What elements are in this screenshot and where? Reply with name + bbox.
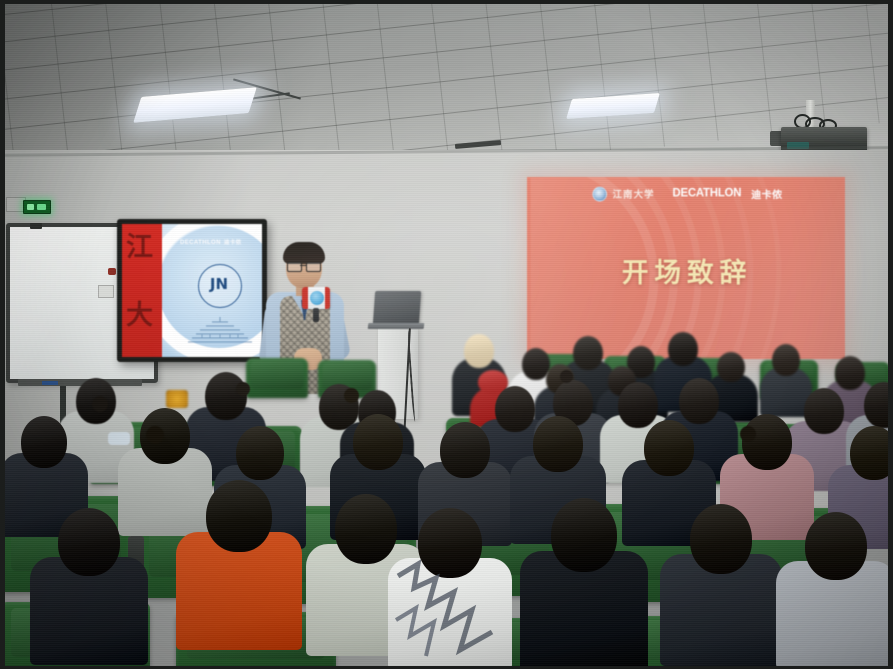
audience-member-head: [679, 378, 719, 424]
laptop[interactable]: [373, 291, 421, 325]
audience-member-head: [850, 426, 893, 480]
varsity-jacket-emblem: [166, 390, 188, 408]
audience-member-head: [551, 498, 617, 572]
audience-member-head: [690, 504, 752, 574]
microphone-handle: [313, 308, 319, 322]
audience-member: [660, 504, 782, 669]
exit-sign-icon: [23, 200, 51, 214]
tv-seal-text: JN: [208, 274, 230, 294]
presenter-hair: [283, 242, 325, 264]
audience-member-head: [742, 414, 792, 470]
audience-member-head: [21, 416, 67, 468]
audience-member-head: [353, 414, 403, 470]
audience-member: [30, 508, 148, 669]
microphone-logo-disc: [310, 291, 324, 305]
audience-member: [520, 498, 648, 669]
tv-brand-cn: 迪卡侬: [224, 240, 242, 246]
wall-socket[interactable]: [98, 285, 114, 298]
glasses-icon: [287, 262, 321, 270]
audience-member-head: [236, 426, 284, 480]
audience-hair-bun: [740, 426, 756, 442]
audience-hair-bun: [236, 382, 250, 396]
wall-fixture: [108, 268, 116, 275]
audience-member: [176, 480, 302, 669]
audience-member-head: [206, 480, 272, 552]
tv-banner-char-1: 江: [126, 234, 153, 261]
lecture-hall-photograph: 江 大 JN DECATHLON迪卡侬 江南大学 DECA: [0, 0, 893, 669]
audience-member-head: [772, 344, 800, 376]
audience-member-head: [668, 332, 698, 366]
ceiling: [0, 0, 893, 172]
audience-member-head: [805, 512, 867, 580]
audience-hair-bun: [560, 370, 573, 383]
laptop-base: [368, 323, 425, 329]
audience-member-head: [644, 420, 694, 476]
tv-banner-char-2: 大: [126, 302, 153, 329]
audience-member-head: [58, 508, 120, 576]
audience-member-head: [533, 416, 583, 472]
audience-hair-bun: [92, 396, 108, 412]
audience-area: [0, 330, 893, 669]
face-mask: [108, 432, 130, 445]
tv-brand-text: DECATHLON: [180, 240, 221, 246]
ceiling-shading: [0, 0, 893, 172]
whiteboard-clip: [30, 223, 42, 229]
tv-decathlon-wordmark: DECATHLON迪卡侬: [180, 238, 242, 246]
audience-member-head: [464, 334, 494, 368]
audience-member-head: [440, 422, 490, 478]
audience-member-head: [864, 382, 893, 428]
audience-hair-bun: [344, 388, 359, 403]
audience-member: [776, 512, 893, 669]
handheld-microphone: [302, 287, 330, 313]
audience-hair-bun: [146, 426, 164, 444]
jacket-pattern: [392, 558, 510, 664]
